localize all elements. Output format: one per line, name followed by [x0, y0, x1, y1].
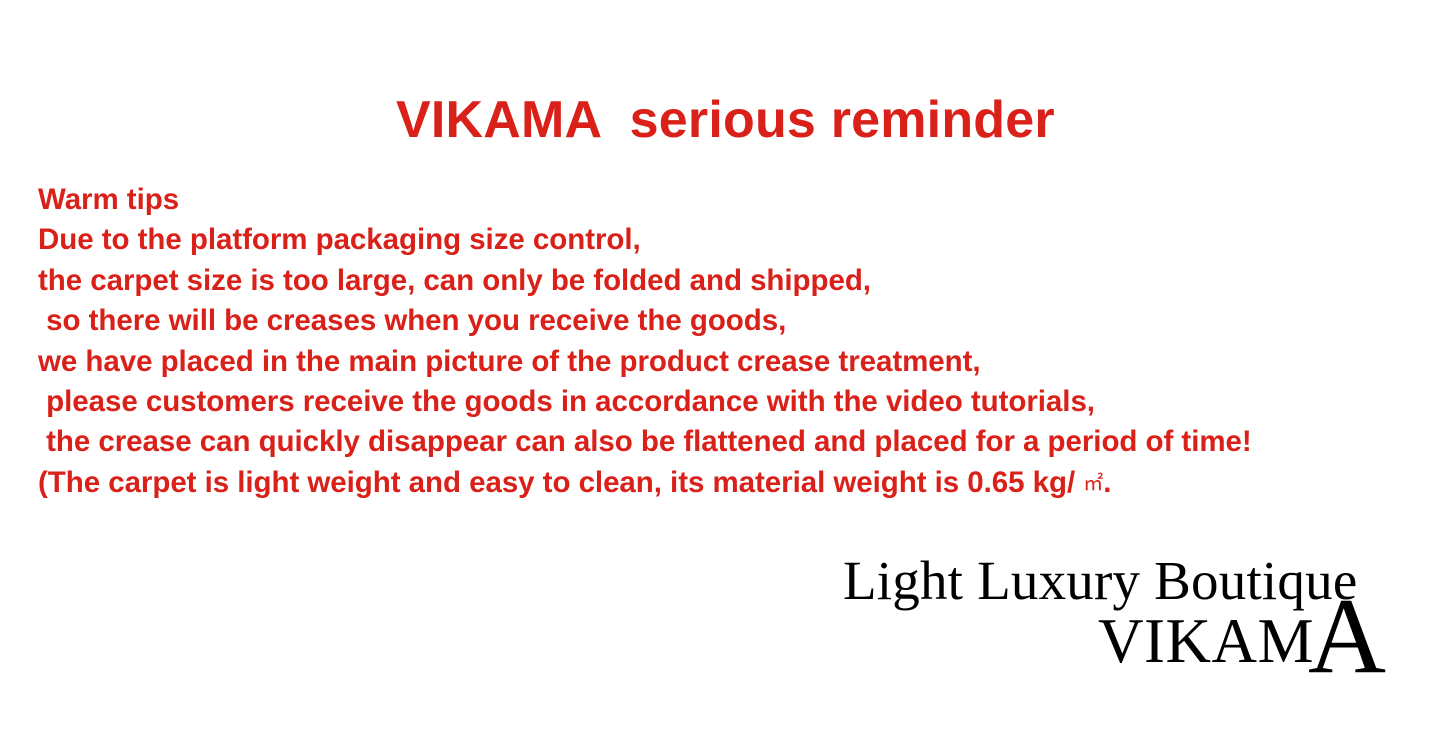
notice-line-3: the carpet size is too large, can only b…	[38, 261, 1438, 301]
notice-line-6: please customers receive the goods in ac…	[38, 382, 1438, 422]
notice-line-5: we have placed in the main picture of th…	[38, 342, 1438, 382]
logo-tagline: Light Luxury Boutique	[843, 552, 1357, 610]
square-meter-unit: ㎡	[1083, 473, 1103, 495]
notice-line-8: (The carpet is light weight and easy to …	[38, 463, 1438, 504]
notice-line-1: Warm tips	[38, 180, 1438, 220]
notice-text-block: Warm tips Due to the platform packaging …	[38, 180, 1438, 504]
logo-initial-a: A	[1308, 582, 1386, 692]
logo-brand-name: VIKAM	[1098, 608, 1314, 674]
reminder-banner: VIKAMA serious reminder Warm tips Due to…	[0, 0, 1445, 736]
notice-line-2: Due to the platform packaging size contr…	[38, 220, 1438, 260]
notice-line-8-suffix: .	[1103, 466, 1111, 499]
brand-logo: Light Luxury Boutique VIKAM A	[840, 552, 1410, 692]
notice-line-4: so there will be creases when you receiv…	[38, 301, 1438, 341]
page-title: VIKAMA serious reminder	[396, 92, 1055, 148]
notice-line-7: the crease can quickly disappear can als…	[38, 422, 1438, 462]
notice-line-8-text: (The carpet is light weight and easy to …	[38, 466, 1083, 499]
